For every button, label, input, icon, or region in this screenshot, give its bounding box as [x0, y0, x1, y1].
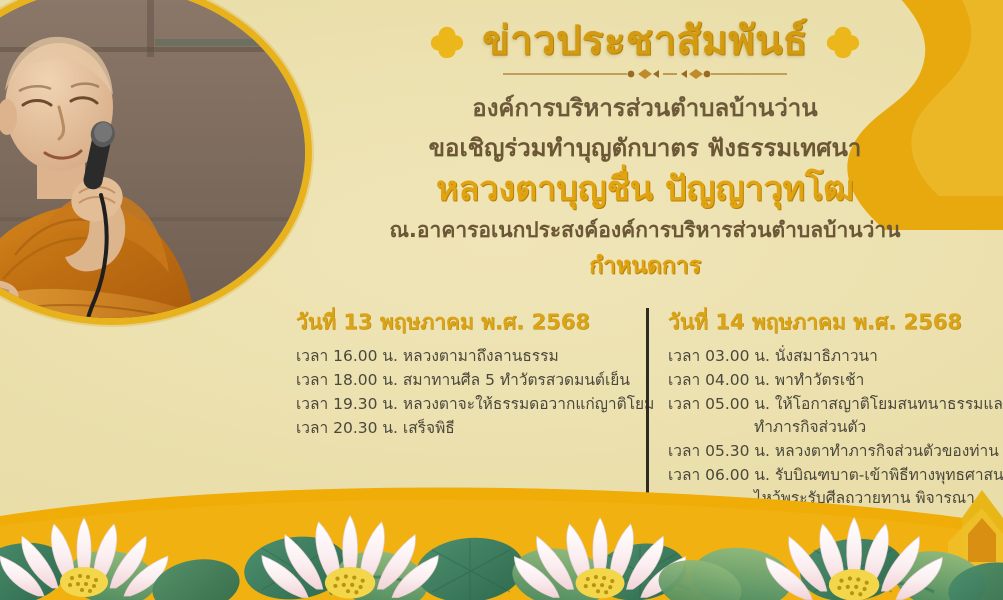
lotus-flower-band	[0, 482, 1003, 600]
day1-heading: วันที่ 13 พฤษภาคม พ.ศ. 2568	[296, 306, 628, 339]
item-text: หลวงตามาถึงลานธรรม	[403, 347, 559, 365]
item-text: พาทำวัตรเช้า	[775, 371, 864, 389]
ornamental-divider	[495, 66, 795, 82]
title-row: ข่าวประชาสัมพันธ์	[300, 20, 990, 63]
list-item: เวลา 16.00 น. หลวงตามาถึงลานธรรม	[296, 345, 628, 368]
quatrefoil-ornament-left	[430, 25, 464, 59]
poster-canvas: ข่าวประชาสัมพันธ์ องค์การบริหารส่วนตำบลบ…	[0, 0, 1003, 600]
item-text: รับบิณฑบาต-เข้าพิธีทางพุทธศาสนา	[775, 466, 1003, 484]
monk-portrait-image	[0, 0, 305, 318]
list-item: เวลา 05.30 น. หลวงตาทำภารกิจส่วนตัวของท่…	[668, 440, 996, 463]
item-text: หลวงตาจะให้ธรรมดอวากแก่ญาติโยม	[403, 395, 654, 413]
monk-name: หลวงตาบุญชื่น ปัญญาวุทโฒ	[300, 169, 990, 210]
list-item: เวลา 19.30 น. หลวงตาจะให้ธรรมดอวากแก่ญาต…	[296, 393, 628, 416]
item-text: สมาทานศีล 5 ทำวัตรสวดมนต์เย็น	[403, 371, 630, 389]
agenda-label: กำหนดการ	[300, 248, 990, 284]
item-time: เวลา 03.00 น.	[668, 347, 770, 365]
invitation-line: ขอเชิญร่วมทำบุญตักบาตร ฟังธรรมเทศนา	[300, 133, 990, 163]
list-item: เวลา 05.00 น. ให้โอกาสญาติโยมสนทนาธรรมแล…	[668, 393, 996, 439]
item-time: เวลา 05.00 น.	[668, 395, 770, 413]
item-time: เวลา 04.00 น.	[668, 371, 770, 389]
item-text: นั่งสมาธิภาวนา	[775, 347, 878, 365]
monk-photo-frame	[0, 0, 312, 325]
page-title: ข่าวประชาสัมพันธ์	[482, 20, 808, 63]
day2-heading: วันที่ 14 พฤษภาคม พ.ศ. 2568	[668, 306, 996, 339]
venue-line: ณ.อาคารอเนกประสงค์องค์การบริหารส่วนตำบลบ…	[300, 217, 990, 243]
column-divider	[646, 308, 649, 508]
list-item: เวลา 20.30 น. เสร็จพิธี	[296, 417, 628, 440]
item-time: เวลา 19.30 น.	[296, 395, 398, 413]
item-time: เวลา 18.00 น.	[296, 371, 398, 389]
list-item: เวลา 18.00 น. สมาทานศีล 5 ทำวัตรสวดมนต์เ…	[296, 369, 628, 392]
day1-item-list: เวลา 16.00 น. หลวงตามาถึงลานธรรม เวลา 18…	[296, 345, 628, 440]
poster-header: ข่าวประชาสัมพันธ์ องค์การบริหารส่วนตำบลบ…	[300, 20, 990, 284]
item-text: ให้โอกาสญาติโยมสนทนาธรรมและ	[775, 395, 1003, 413]
item-time: เวลา 16.00 น.	[296, 347, 398, 365]
item-time: เวลา 20.30 น.	[296, 419, 398, 437]
item-text: เสร็จพิธี	[403, 419, 455, 437]
item-time: เวลา 05.30 น.	[668, 442, 770, 460]
item-continuation: ทำภารกิจส่วนตัว	[668, 416, 996, 439]
organization-name: องค์การบริหารส่วนตำบลบ้านว่าน	[300, 93, 990, 123]
list-item: เวลา 04.00 น. พาทำวัตรเช้า	[668, 369, 996, 392]
item-time: เวลา 06.00 น.	[668, 466, 770, 484]
item-text: หลวงตาทำภารกิจส่วนตัวของท่าน	[775, 442, 999, 460]
list-item: เวลา 03.00 น. นั่งสมาธิภาวนา	[668, 345, 996, 368]
quatrefoil-ornament-right	[826, 25, 860, 59]
